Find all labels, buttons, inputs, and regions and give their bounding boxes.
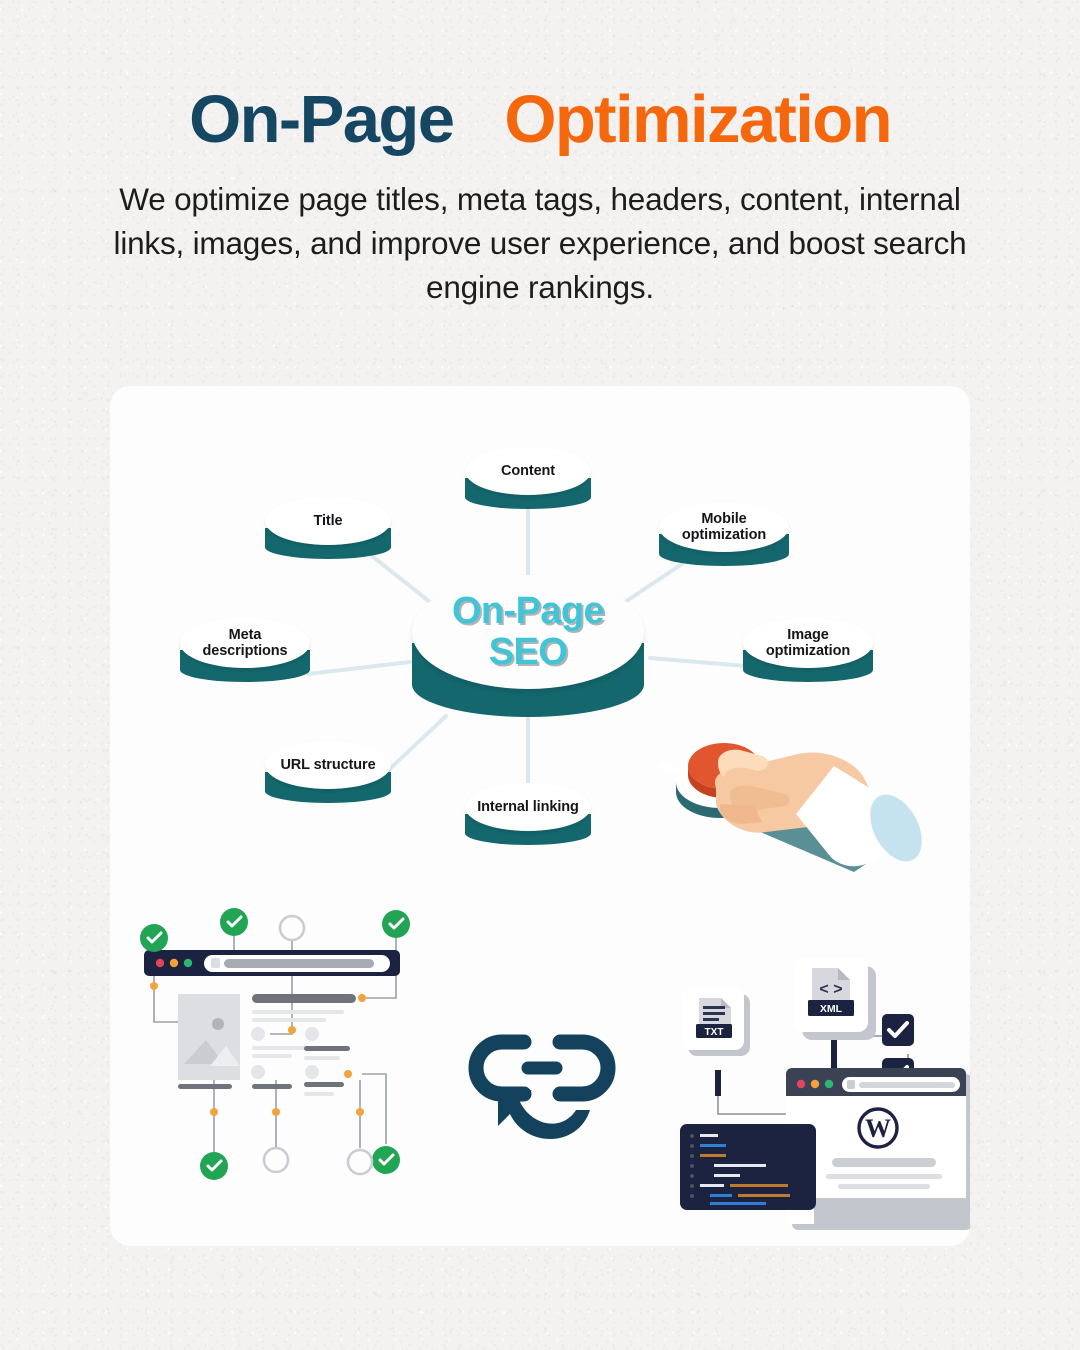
node-cylinder-top: Meta descriptions [180,618,310,668]
mindmap-node-internal-linking[interactable]: Internal linking [465,783,591,845]
node-cylinder-top: Image optimization [743,618,873,668]
check-pin [220,908,248,936]
mindmap-node-image-optimization[interactable]: Image optimization [743,618,873,682]
mindmap-node-label: URL structure [274,757,381,773]
mindmap-hub-on-page-seo[interactable]: On-Page SEO [412,575,644,717]
code-editor-panel [680,1124,816,1210]
address-lock-icon [211,958,220,968]
code-tag-glyph: < > [819,981,842,998]
mindmap-node-label: Image optimization [743,627,873,659]
mindmap-node-label: Mobile optimization [659,511,789,543]
seo-mindmap: Content Title Mobile optimization [110,386,970,886]
hub-label-line1: On-Page [452,592,604,631]
hub-label-line2: SEO [489,633,567,672]
header: On-Page Optimization We optimize page ti… [0,0,1080,310]
mindmap-node-label: Title [307,513,348,529]
node-cylinder-top: Mobile optimization [659,502,789,552]
node-cylinder-top: URL structure [265,741,391,789]
mindmap-node-url-structure[interactable]: URL structure [265,741,391,803]
mindmap-node-meta-descriptions[interactable]: Meta descriptions [180,618,310,682]
mindmap-node-label: Content [495,463,561,479]
browser-dot-red [156,959,164,967]
internal-link-icon-group [462,1008,622,1173]
check-pin [382,910,410,938]
check-pin [200,1152,228,1180]
chain-link-icon [476,1042,608,1094]
hand-on-mouse-illustration [658,686,958,891]
mindmap-node-content[interactable]: Content [465,447,591,509]
checkbox-checked [882,1014,914,1046]
technical-seo-illustration: TXT < > XML [666,946,970,1251]
browser-dot-green [184,959,192,967]
mouse-cable [658,766,678,770]
check-pin [372,1146,400,1174]
hero-image-placeholder [178,994,240,1080]
mindmap-node-title[interactable]: Title [265,497,391,559]
page-subtitle: We optimize page titles, meta tags, head… [100,178,980,309]
hub-cylinder-top: On-Page SEO [412,575,644,689]
mindmap-node-label: Meta descriptions [180,627,310,659]
xml-file-label: XML [820,1003,843,1015]
node-cylinder-top: Content [465,447,591,495]
mindmap-node-mobile-optimization[interactable]: Mobile optimization [659,502,789,566]
browser-dot-yellow [170,959,178,967]
page-title-part2: Optimization [504,82,891,157]
txt-file-label: TXT [705,1027,724,1038]
check-pin [140,924,168,952]
illustration-card: Content Title Mobile optimization [110,386,970,1246]
mindmap-node-label: Internal linking [471,799,585,815]
node-cylinder-top: Title [265,497,391,545]
wordpress-mark-letter: W [865,1114,891,1143]
content-text-lines [251,994,356,1096]
xml-file-card: < > XML [794,958,876,1040]
browser-audit-illustration [130,894,430,1199]
infographic-root: On-Page Optimization We optimize page ti… [0,0,1080,1350]
page-title: On-Page Optimization [0,86,1080,154]
txt-file-card: TXT [682,988,750,1056]
node-cylinder-top: Internal linking [465,783,591,831]
page-title-part1: On-Page [189,82,453,157]
